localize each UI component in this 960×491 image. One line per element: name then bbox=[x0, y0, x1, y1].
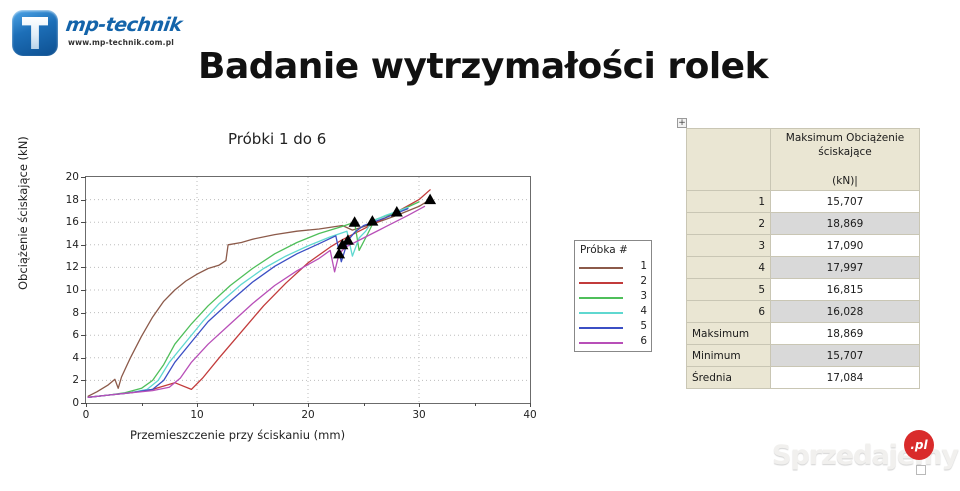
x-axis-tick-mark bbox=[530, 403, 531, 407]
x-axis-tick-mark bbox=[86, 403, 87, 407]
y-axis-tick-label: 12 bbox=[53, 261, 79, 273]
table-row-value: 16,028 bbox=[771, 301, 920, 323]
x-axis-tick-label: 20 bbox=[301, 409, 314, 421]
legend-color-swatch bbox=[579, 267, 623, 269]
legend-item-label: 3 bbox=[640, 290, 647, 302]
y-axis-tick-label: 14 bbox=[53, 239, 79, 251]
logo-wordmark: mp-technik bbox=[64, 14, 183, 36]
x-axis-minor-tick-mark bbox=[253, 403, 254, 406]
x-axis-minor-tick-mark bbox=[364, 403, 365, 406]
table-row-label: 4 bbox=[687, 257, 771, 279]
table-row-value: 16,815 bbox=[771, 279, 920, 301]
legend-item-4[interactable]: 4 bbox=[579, 305, 649, 320]
chart-legend: Próbka # 123456 bbox=[574, 240, 652, 352]
table-row[interactable]: 317,090 bbox=[687, 235, 920, 257]
legend-color-swatch bbox=[579, 312, 623, 314]
y-axis-tick-mark bbox=[81, 335, 86, 336]
table-row-value: 17,090 bbox=[771, 235, 920, 257]
y-axis-tick-label: 18 bbox=[53, 194, 79, 206]
legend-item-label: 4 bbox=[640, 305, 647, 317]
table-row-label: 5 bbox=[687, 279, 771, 301]
logo-website-url: www.mp-technik.com.pl bbox=[68, 38, 174, 47]
legend-title: Próbka # bbox=[580, 244, 628, 256]
table-row-label: 2 bbox=[687, 213, 771, 235]
y-axis-tick-label: 0 bbox=[53, 397, 79, 409]
table-row-label: Minimum bbox=[687, 345, 771, 367]
header-line2: ściskające bbox=[818, 146, 872, 158]
y-axis-tick-label: 2 bbox=[53, 374, 79, 386]
y-axis-tick-label: 6 bbox=[53, 329, 79, 341]
y-axis-tick-label: 16 bbox=[53, 216, 79, 228]
table-row[interactable]: 417,997 bbox=[687, 257, 920, 279]
table-row[interactable]: 115,707 bbox=[687, 191, 920, 213]
legend-item-1[interactable]: 1 bbox=[579, 260, 649, 275]
chart-panel: Próbki 1 do 6 Obciążenie ściskające (kN)… bbox=[20, 120, 580, 450]
x-axis-tick-label: 0 bbox=[83, 409, 90, 421]
y-axis-tick-mark bbox=[81, 380, 86, 381]
table-row-label: 6 bbox=[687, 301, 771, 323]
x-axis-minor-tick-mark bbox=[475, 403, 476, 406]
chart-y-axis-label: Obciążenie ściskające (kN) bbox=[16, 136, 30, 290]
y-axis-tick-mark bbox=[81, 267, 86, 268]
x-axis-tick-label: 10 bbox=[190, 409, 203, 421]
results-table-panel: + Maksimum Obciążenie ściskające (kN)| 1… bbox=[686, 128, 920, 389]
expand-table-icon[interactable]: + bbox=[677, 118, 687, 128]
chart-title: Próbki 1 do 6 bbox=[228, 130, 326, 148]
legend-item-5[interactable]: 5 bbox=[579, 320, 649, 335]
table-row-value: 18,869 bbox=[771, 323, 920, 345]
table-row-label: Średnia bbox=[687, 367, 771, 389]
watermark-square-icon bbox=[916, 465, 926, 475]
table-row-value: 17,997 bbox=[771, 257, 920, 279]
header-line1: Maksimum Obciążenie bbox=[786, 132, 904, 144]
y-axis-tick-mark bbox=[81, 290, 86, 291]
chart-x-axis-label: Przemieszczenie przy ściskaniu (mm) bbox=[130, 428, 345, 442]
legend-item-2[interactable]: 2 bbox=[579, 275, 649, 290]
y-axis-tick-label: 8 bbox=[53, 307, 79, 319]
table-header-row: Maksimum Obciążenie ściskające (kN)| bbox=[687, 129, 920, 191]
y-axis-tick-mark bbox=[81, 177, 86, 178]
table-row-label: 1 bbox=[687, 191, 771, 213]
watermark-badge: .pl bbox=[904, 430, 934, 460]
y-axis-tick-mark bbox=[81, 200, 86, 201]
y-axis-tick-mark bbox=[81, 245, 86, 246]
table-row[interactable]: Średnia17,084 bbox=[687, 367, 920, 389]
x-axis-tick-label: 30 bbox=[412, 409, 425, 421]
legend-color-swatch bbox=[579, 297, 623, 299]
x-axis-tick-mark bbox=[197, 403, 198, 407]
x-axis-tick-label: 40 bbox=[523, 409, 536, 421]
table-row-value: 15,707 bbox=[771, 345, 920, 367]
table-row-label: Maksimum bbox=[687, 323, 771, 345]
table-row-value: 17,084 bbox=[771, 367, 920, 389]
y-axis-tick-mark bbox=[81, 313, 86, 314]
y-axis-tick-label: 20 bbox=[53, 171, 79, 183]
legend-item-label: 2 bbox=[640, 275, 647, 287]
page-title: Badanie wytrzymałości rolek bbox=[198, 46, 768, 87]
table-row[interactable]: Minimum15,707 bbox=[687, 345, 920, 367]
legend-item-3[interactable]: 3 bbox=[579, 290, 649, 305]
x-axis-minor-tick-mark bbox=[142, 403, 143, 406]
table-row[interactable]: 616,028 bbox=[687, 301, 920, 323]
x-axis-tick-mark bbox=[419, 403, 420, 407]
legend-color-swatch bbox=[579, 327, 623, 329]
table-row-label: 3 bbox=[687, 235, 771, 257]
table-header-label-col bbox=[687, 129, 771, 191]
results-table: Maksimum Obciążenie ściskające (kN)| 115… bbox=[686, 128, 920, 389]
mp-technik-logo-icon bbox=[12, 10, 58, 56]
table-row[interactable]: Maksimum18,869 bbox=[687, 323, 920, 345]
legend-color-swatch bbox=[579, 282, 623, 284]
table-header-value-col: Maksimum Obciążenie ściskające (kN)| bbox=[771, 129, 920, 191]
legend-item-label: 1 bbox=[640, 260, 647, 272]
table-row-value: 18,869 bbox=[771, 213, 920, 235]
y-axis-tick-label: 10 bbox=[53, 284, 79, 296]
y-axis-tick-mark bbox=[81, 222, 86, 223]
chart-series-svg bbox=[86, 177, 530, 403]
table-row[interactable]: 218,869 bbox=[687, 213, 920, 235]
legend-color-swatch bbox=[579, 342, 623, 344]
header-unit: (kN)| bbox=[832, 175, 858, 187]
chart-plot-area bbox=[85, 176, 531, 404]
legend-item-6[interactable]: 6 bbox=[579, 335, 649, 350]
legend-item-label: 5 bbox=[640, 320, 647, 332]
brand-logo: mp-technik www.mp-technik.com.pl bbox=[12, 8, 212, 58]
y-axis-tick-mark bbox=[81, 358, 86, 359]
legend-item-label: 6 bbox=[640, 335, 647, 347]
x-axis-tick-mark bbox=[308, 403, 309, 407]
y-axis-tick-label: 4 bbox=[53, 352, 79, 364]
table-row-value: 15,707 bbox=[771, 191, 920, 213]
table-row[interactable]: 516,815 bbox=[687, 279, 920, 301]
